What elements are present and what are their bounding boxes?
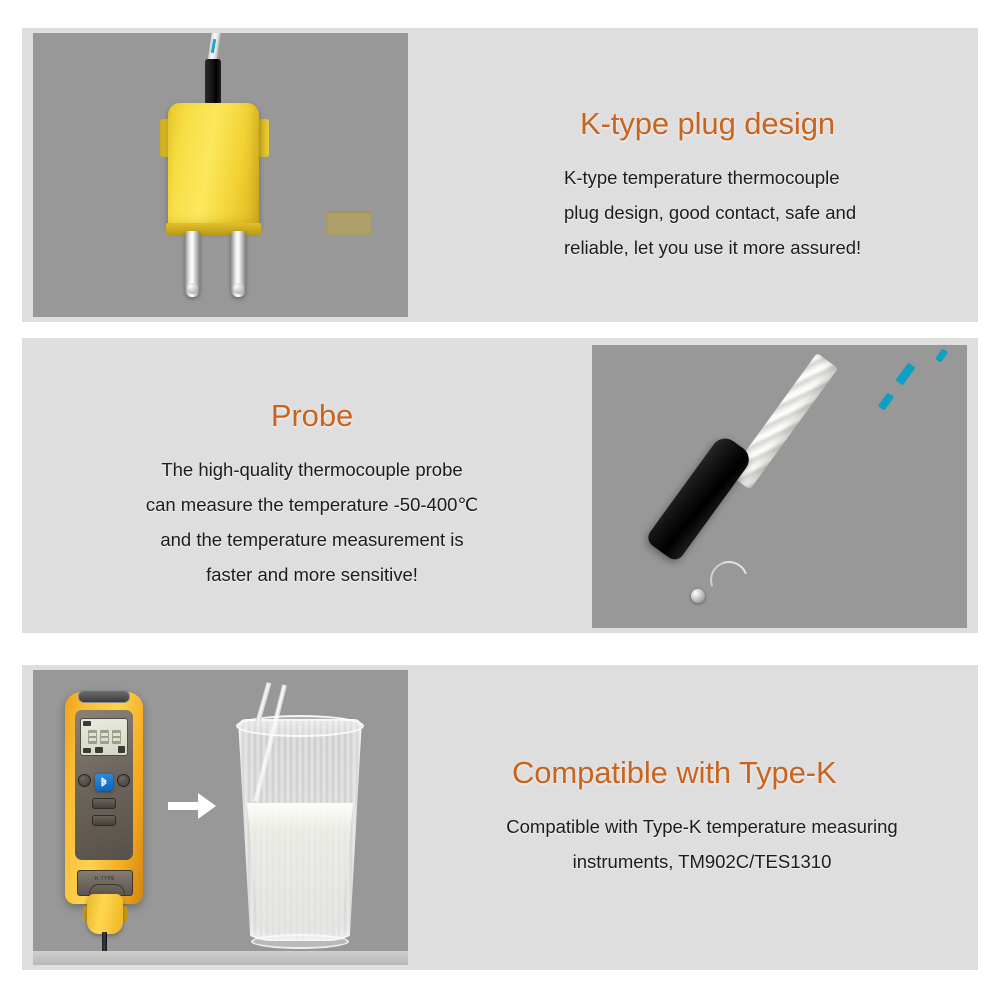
plug-body-yellow [168,103,259,229]
probe-teal-stripe [895,362,915,385]
glass-liquid [247,803,353,933]
glass-base [251,934,349,949]
feature-body-line: reliable, let you use it more assured! [442,230,962,265]
plug-base-plate [166,223,261,235]
feature-body-line: faster and more sensitive! [42,557,582,592]
strain-relief-boot [205,59,221,107]
plug-pin-right [231,231,246,297]
feature-text-probe: Probe The high-quality thermocouple prob… [42,398,582,592]
lcd-digit [112,730,121,744]
product-photo-probe-tip [592,345,967,628]
arrow-right-icon [168,793,216,819]
plug-pin-tip-left [187,283,198,294]
inserted-k-type-plug [87,894,123,934]
probe-bead-tip [691,589,705,603]
hold-button [92,798,116,809]
feature-heading: Compatible with Type-K [442,755,962,791]
feature-panel-k-type-plug: K-type plug design K-type temperature th… [22,28,978,322]
thermometer-top-grip [78,690,130,703]
probe-teal-stripe [935,348,948,363]
plug-emboss [326,211,372,235]
lcd-celsius-icon [118,746,125,753]
feature-heading: K-type plug design [442,106,962,142]
socket-label: K-TYPE [78,876,132,882]
thermometer-probe-socket: K-TYPE [77,870,133,896]
bluetooth-button [95,774,113,791]
table-surface [33,951,408,965]
probe-braided-sheath [729,353,838,490]
feature-heading: Probe [42,398,582,434]
lcd-hold-icon [83,748,91,753]
feature-body-line: The high-quality thermocouple probe [42,452,582,487]
probe-exposed-wire-loop [704,555,754,605]
infographic-page: K-type plug design K-type temperature th… [0,0,1001,1001]
plug-ear-right [258,119,269,157]
lcd-digit [88,730,97,744]
bluetooth-icon [98,777,110,789]
feature-text-k-type-plug: K-type plug design K-type temperature th… [442,106,962,265]
feature-body-line: K-type temperature thermocouple [442,160,962,195]
feature-body-line: can measure the temperature -50-400℃ [42,487,582,522]
feature-panel-probe: Probe The high-quality thermocouple prob… [22,338,978,633]
plug-pin-left [185,231,200,297]
drinking-glass [230,707,370,955]
socket-arc [89,884,125,894]
thermometer-lcd-display [80,718,128,756]
feature-body-line: plug design, good contact, safe and [442,195,962,230]
probe-assembly [592,345,967,628]
feature-body-line: Compatible with Type-K temperature measu… [442,809,962,844]
lcd-digit [100,730,109,744]
product-photo-thermometer-and-glass: K-TYPE [33,670,408,965]
product-photo-k-type-plug [33,33,408,317]
power-button [78,774,91,787]
feature-body-line: and the temperature measurement is [42,522,582,557]
feature-text-compatible-type-k: Compatible with Type-K Compatible with T… [442,755,962,879]
plug-pin-tip-right [233,283,244,294]
lcd-battery-icon [83,721,91,726]
feature-panel-compatible-type-k: K-TYPE Compatible wi [22,665,978,970]
max-min-button [92,815,116,826]
lcd-mode-icon [95,747,103,753]
settings-button [117,774,130,787]
lcd-digit-group [88,730,121,744]
probe-teal-stripe [878,392,894,410]
feature-body-line: instruments, TM902C/TES1310 [442,844,962,879]
probe-heatshrink-sleeve [644,433,754,563]
